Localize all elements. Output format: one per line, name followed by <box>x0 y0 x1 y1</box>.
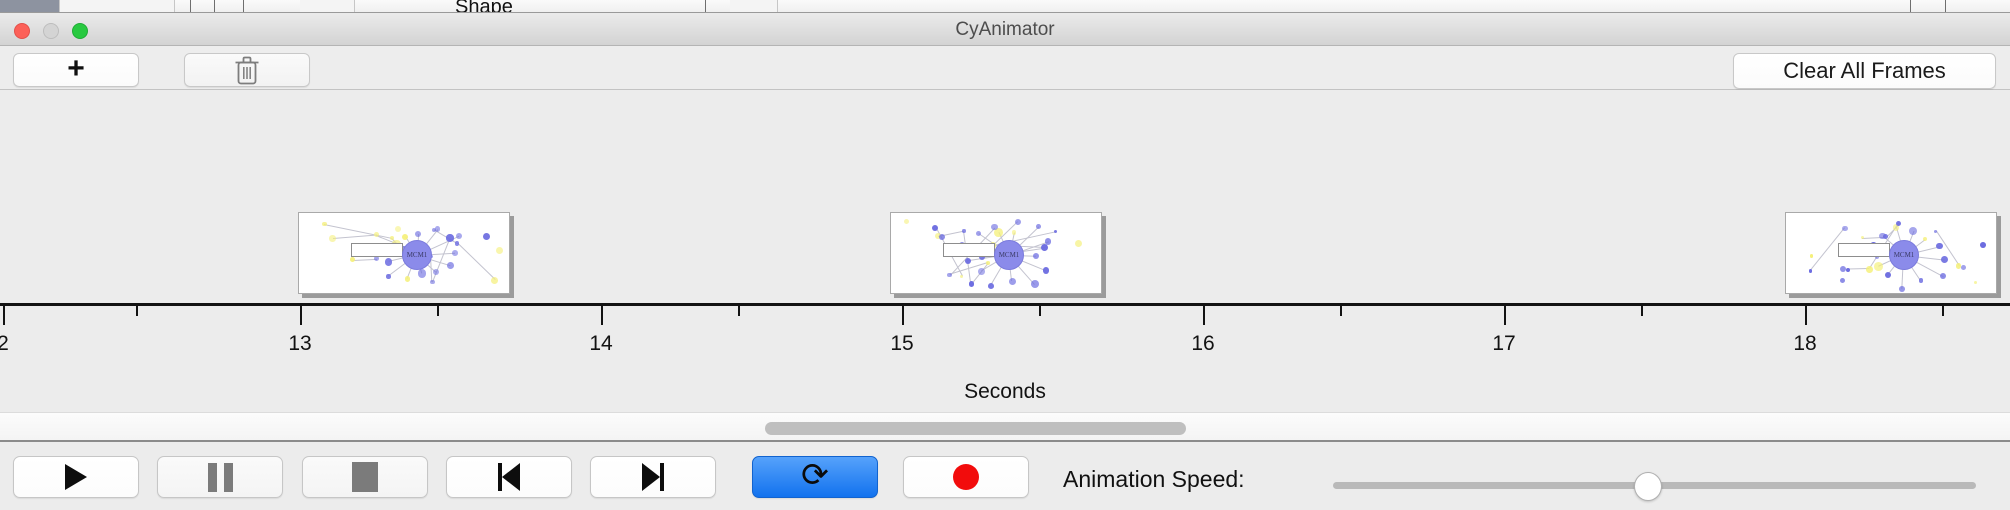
graph-node <box>386 274 390 278</box>
graph-node <box>1031 280 1039 288</box>
graph-node <box>1033 253 1039 259</box>
graph-node <box>491 277 498 284</box>
graph-hub-node: MCM1 <box>1889 240 1919 270</box>
playback-control-bar: ⟳ Animation Speed: <box>0 444 2010 510</box>
graph-node <box>1941 256 1948 263</box>
skip-backward-icon <box>498 463 520 491</box>
axis-tick-major <box>902 306 904 325</box>
graph-node <box>415 231 421 237</box>
frame-thumbnail[interactable]: MCM1 <box>890 212 1102 294</box>
graph-node <box>965 258 971 264</box>
graph-node <box>1934 230 1937 233</box>
axis-tick-label: 15 <box>890 332 913 356</box>
clear-all-frames-label: Clear All Frames <box>1783 58 1946 84</box>
graph-node <box>1940 273 1946 279</box>
graph-hub-node: MCM1 <box>994 240 1024 270</box>
axis-tick-label: 18 <box>1793 332 1816 356</box>
loop-button[interactable]: ⟳ <box>752 456 878 498</box>
graph-node <box>1980 242 1986 248</box>
axis-tick-minor <box>1942 306 1944 316</box>
graph-node <box>322 222 327 227</box>
graph-node <box>405 276 410 281</box>
network-graph-preview: MCM1 <box>891 213 1101 293</box>
frame-thumbnail[interactable]: MCM1 <box>1785 212 1997 294</box>
axis-tick-label: 17 <box>1492 332 1515 356</box>
axis-tick-label: 14 <box>589 332 612 356</box>
graph-edge <box>353 258 377 260</box>
cyanimator-window: Shape CyAnimator + Clear All Frames <box>0 0 2010 510</box>
window-title: CyAnimator <box>0 19 2010 41</box>
trash-icon <box>234 56 260 85</box>
axis-tick-minor <box>1340 306 1342 316</box>
graph-node <box>329 235 335 241</box>
graph-node <box>986 261 990 265</box>
stop-button[interactable] <box>302 456 428 498</box>
graph-node <box>385 258 392 265</box>
axis-tick-minor <box>437 306 439 316</box>
graph-node <box>496 247 503 254</box>
graph-edge <box>333 235 377 240</box>
graph-node <box>432 228 436 232</box>
graph-node <box>1810 254 1813 257</box>
graph-node <box>418 269 426 277</box>
graph-node <box>904 219 909 224</box>
graph-node <box>1840 278 1845 283</box>
add-frame-button[interactable]: + <box>13 53 139 87</box>
graph-node <box>447 262 454 269</box>
graph-node <box>395 226 402 233</box>
graph-node <box>969 281 975 287</box>
graph-callout-box <box>351 243 403 257</box>
graph-node <box>1923 237 1927 241</box>
skip-forward-icon <box>642 463 664 491</box>
axis-tick-major <box>1805 306 1807 325</box>
play-icon <box>65 464 87 490</box>
graph-node <box>1840 266 1846 272</box>
graph-node <box>1012 230 1017 235</box>
graph-node <box>1874 262 1883 271</box>
stop-icon <box>352 462 378 492</box>
frame-thumbnail[interactable]: MCM1 <box>298 212 510 294</box>
graph-node <box>446 234 453 241</box>
graph-node <box>1919 278 1924 283</box>
delete-frame-button[interactable] <box>184 53 310 87</box>
plus-icon: + <box>67 54 85 84</box>
graph-node <box>483 233 490 240</box>
axis-tick-major <box>300 306 302 325</box>
axis-tick-minor <box>1641 306 1643 316</box>
graph-node <box>1896 221 1901 226</box>
graph-node <box>452 250 458 256</box>
animation-speed-slider-thumb[interactable] <box>1634 472 1662 501</box>
timeline-scrollbar-thumb[interactable] <box>765 422 1186 435</box>
graph-node <box>435 226 440 231</box>
axis-tick-minor <box>136 306 138 316</box>
graph-node <box>1909 227 1917 235</box>
network-graph-preview: MCM1 <box>299 213 509 293</box>
graph-node <box>960 275 963 278</box>
previous-frame-button[interactable] <box>446 456 572 498</box>
pause-icon <box>208 463 233 492</box>
graph-node <box>1866 266 1872 272</box>
axis-tick-minor <box>1039 306 1041 316</box>
next-frame-button[interactable] <box>590 456 716 498</box>
graph-node <box>374 232 379 237</box>
graph-hub-node: MCM1 <box>402 240 432 270</box>
axis-tick-label: 2 <box>0 332 9 356</box>
graph-node <box>1009 278 1016 285</box>
graph-node <box>1974 281 1977 284</box>
graph-node <box>1041 244 1048 251</box>
graph-node <box>1015 219 1021 225</box>
graph-node <box>1075 240 1082 247</box>
graph-node <box>1809 269 1813 273</box>
graph-node <box>988 283 994 289</box>
timeline-scrollbar-track[interactable] <box>0 412 2010 442</box>
graph-node <box>433 269 439 275</box>
axis-title: Seconds <box>0 380 2010 404</box>
axis-tick-major <box>1203 306 1205 325</box>
axis-tick-label: 13 <box>288 332 311 356</box>
graph-node <box>1846 268 1850 272</box>
clear-all-frames-button[interactable]: Clear All Frames <box>1733 53 1996 89</box>
graph-node <box>456 233 462 239</box>
axis-tick-label: 16 <box>1191 332 1214 356</box>
graph-node <box>1036 224 1041 229</box>
title-bar: CyAnimator <box>0 13 2010 46</box>
graph-node <box>1883 234 1888 239</box>
graph-node <box>1043 267 1049 273</box>
network-graph-preview: MCM1 <box>1786 213 1996 293</box>
graph-node <box>947 273 952 278</box>
graph-callout-box <box>943 243 995 257</box>
graph-node <box>939 234 945 240</box>
graph-node <box>1961 265 1966 270</box>
graph-node <box>1936 243 1942 249</box>
graph-node <box>1885 272 1891 278</box>
record-button[interactable] <box>903 456 1029 498</box>
play-button[interactable] <box>13 456 139 498</box>
graph-node <box>350 257 355 262</box>
axis-tick-major <box>601 306 603 325</box>
loop-icon: ⟳ <box>801 458 829 491</box>
graph-node <box>962 229 965 232</box>
frame-toolbar: + Clear All Frames <box>0 46 2010 90</box>
axis-tick-minor <box>738 306 740 316</box>
graph-edge <box>457 243 496 281</box>
graph-node <box>1899 286 1905 292</box>
graph-node <box>455 241 460 246</box>
graph-node <box>1842 226 1847 231</box>
animation-speed-label: Animation Speed: <box>1063 466 1245 493</box>
graph-node <box>991 224 997 230</box>
graph-node <box>978 268 985 275</box>
axis-tick-major <box>3 306 5 325</box>
record-icon <box>953 464 979 490</box>
pause-button[interactable] <box>157 456 283 498</box>
graph-node <box>1054 230 1057 233</box>
background-window-label: Shape <box>455 0 513 13</box>
axis-tick-major <box>1504 306 1506 325</box>
graph-node <box>430 280 434 284</box>
background-window-strip: Shape <box>0 0 2010 13</box>
graph-callout-box <box>1838 243 1890 257</box>
